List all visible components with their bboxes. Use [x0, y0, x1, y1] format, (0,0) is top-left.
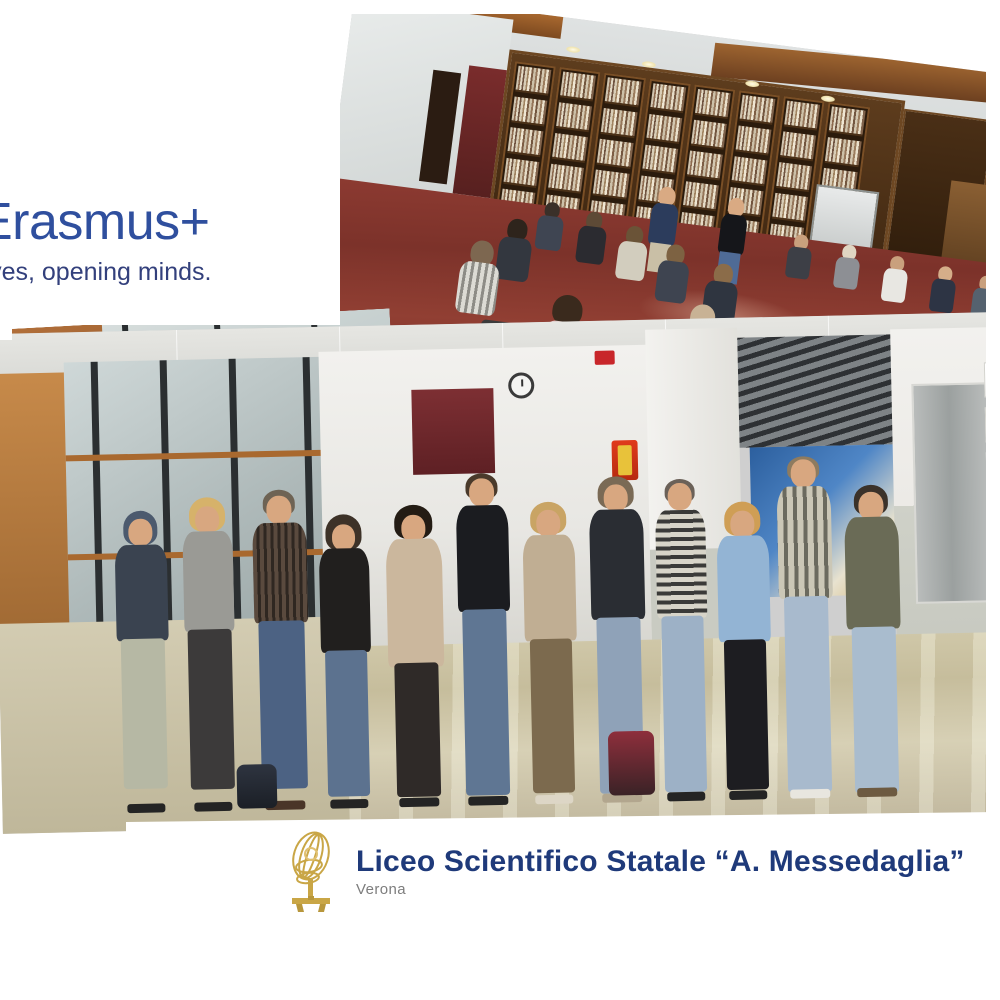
group-person: [715, 501, 775, 798]
photo-group-atrium: [0, 312, 1000, 834]
school-footer-content: Liceo Scientifico Statale “A. Messedagli…: [284, 830, 965, 914]
group-person: [179, 497, 240, 810]
group-person: [653, 478, 712, 799]
group-person: [317, 514, 375, 807]
emergency-sign: [594, 350, 614, 364]
group-person: [775, 456, 838, 797]
school-identity-text: Liceo Scientifico Statale “A. Messedagli…: [356, 846, 965, 899]
school-city: Verona: [356, 881, 965, 898]
group-atrium-scene: [0, 312, 1000, 834]
group-person: [383, 504, 448, 805]
bottom-left-white-margin: [0, 905, 140, 1000]
erasmus-tagline: lives, opening minds.: [0, 260, 308, 285]
fire-extinguisher-cabinet: [612, 440, 639, 481]
red-wall-panel: [412, 388, 495, 475]
school-footer-band: Liceo Scientifico Statale “A. Messedagli…: [126, 812, 1000, 1000]
school-name: Liceo Scientifico Statale “A. Messedagli…: [356, 846, 965, 878]
erasmus-wordmark: Erasmus+: [0, 196, 308, 248]
backpack: [608, 731, 655, 796]
group-person: [454, 473, 515, 804]
group-person: [842, 484, 905, 795]
erasmus-plus-logo: Erasmus+ lives, opening minds.: [0, 196, 308, 285]
bag: [236, 764, 277, 809]
armillary-sphere-emblem: [284, 830, 338, 914]
group-person: [113, 510, 174, 811]
poster-canvas: Erasmus+ lives, opening minds.: [0, 0, 1000, 1000]
group-person: [521, 501, 582, 802]
group-person: [250, 489, 313, 808]
elevator-door: [911, 382, 992, 604]
